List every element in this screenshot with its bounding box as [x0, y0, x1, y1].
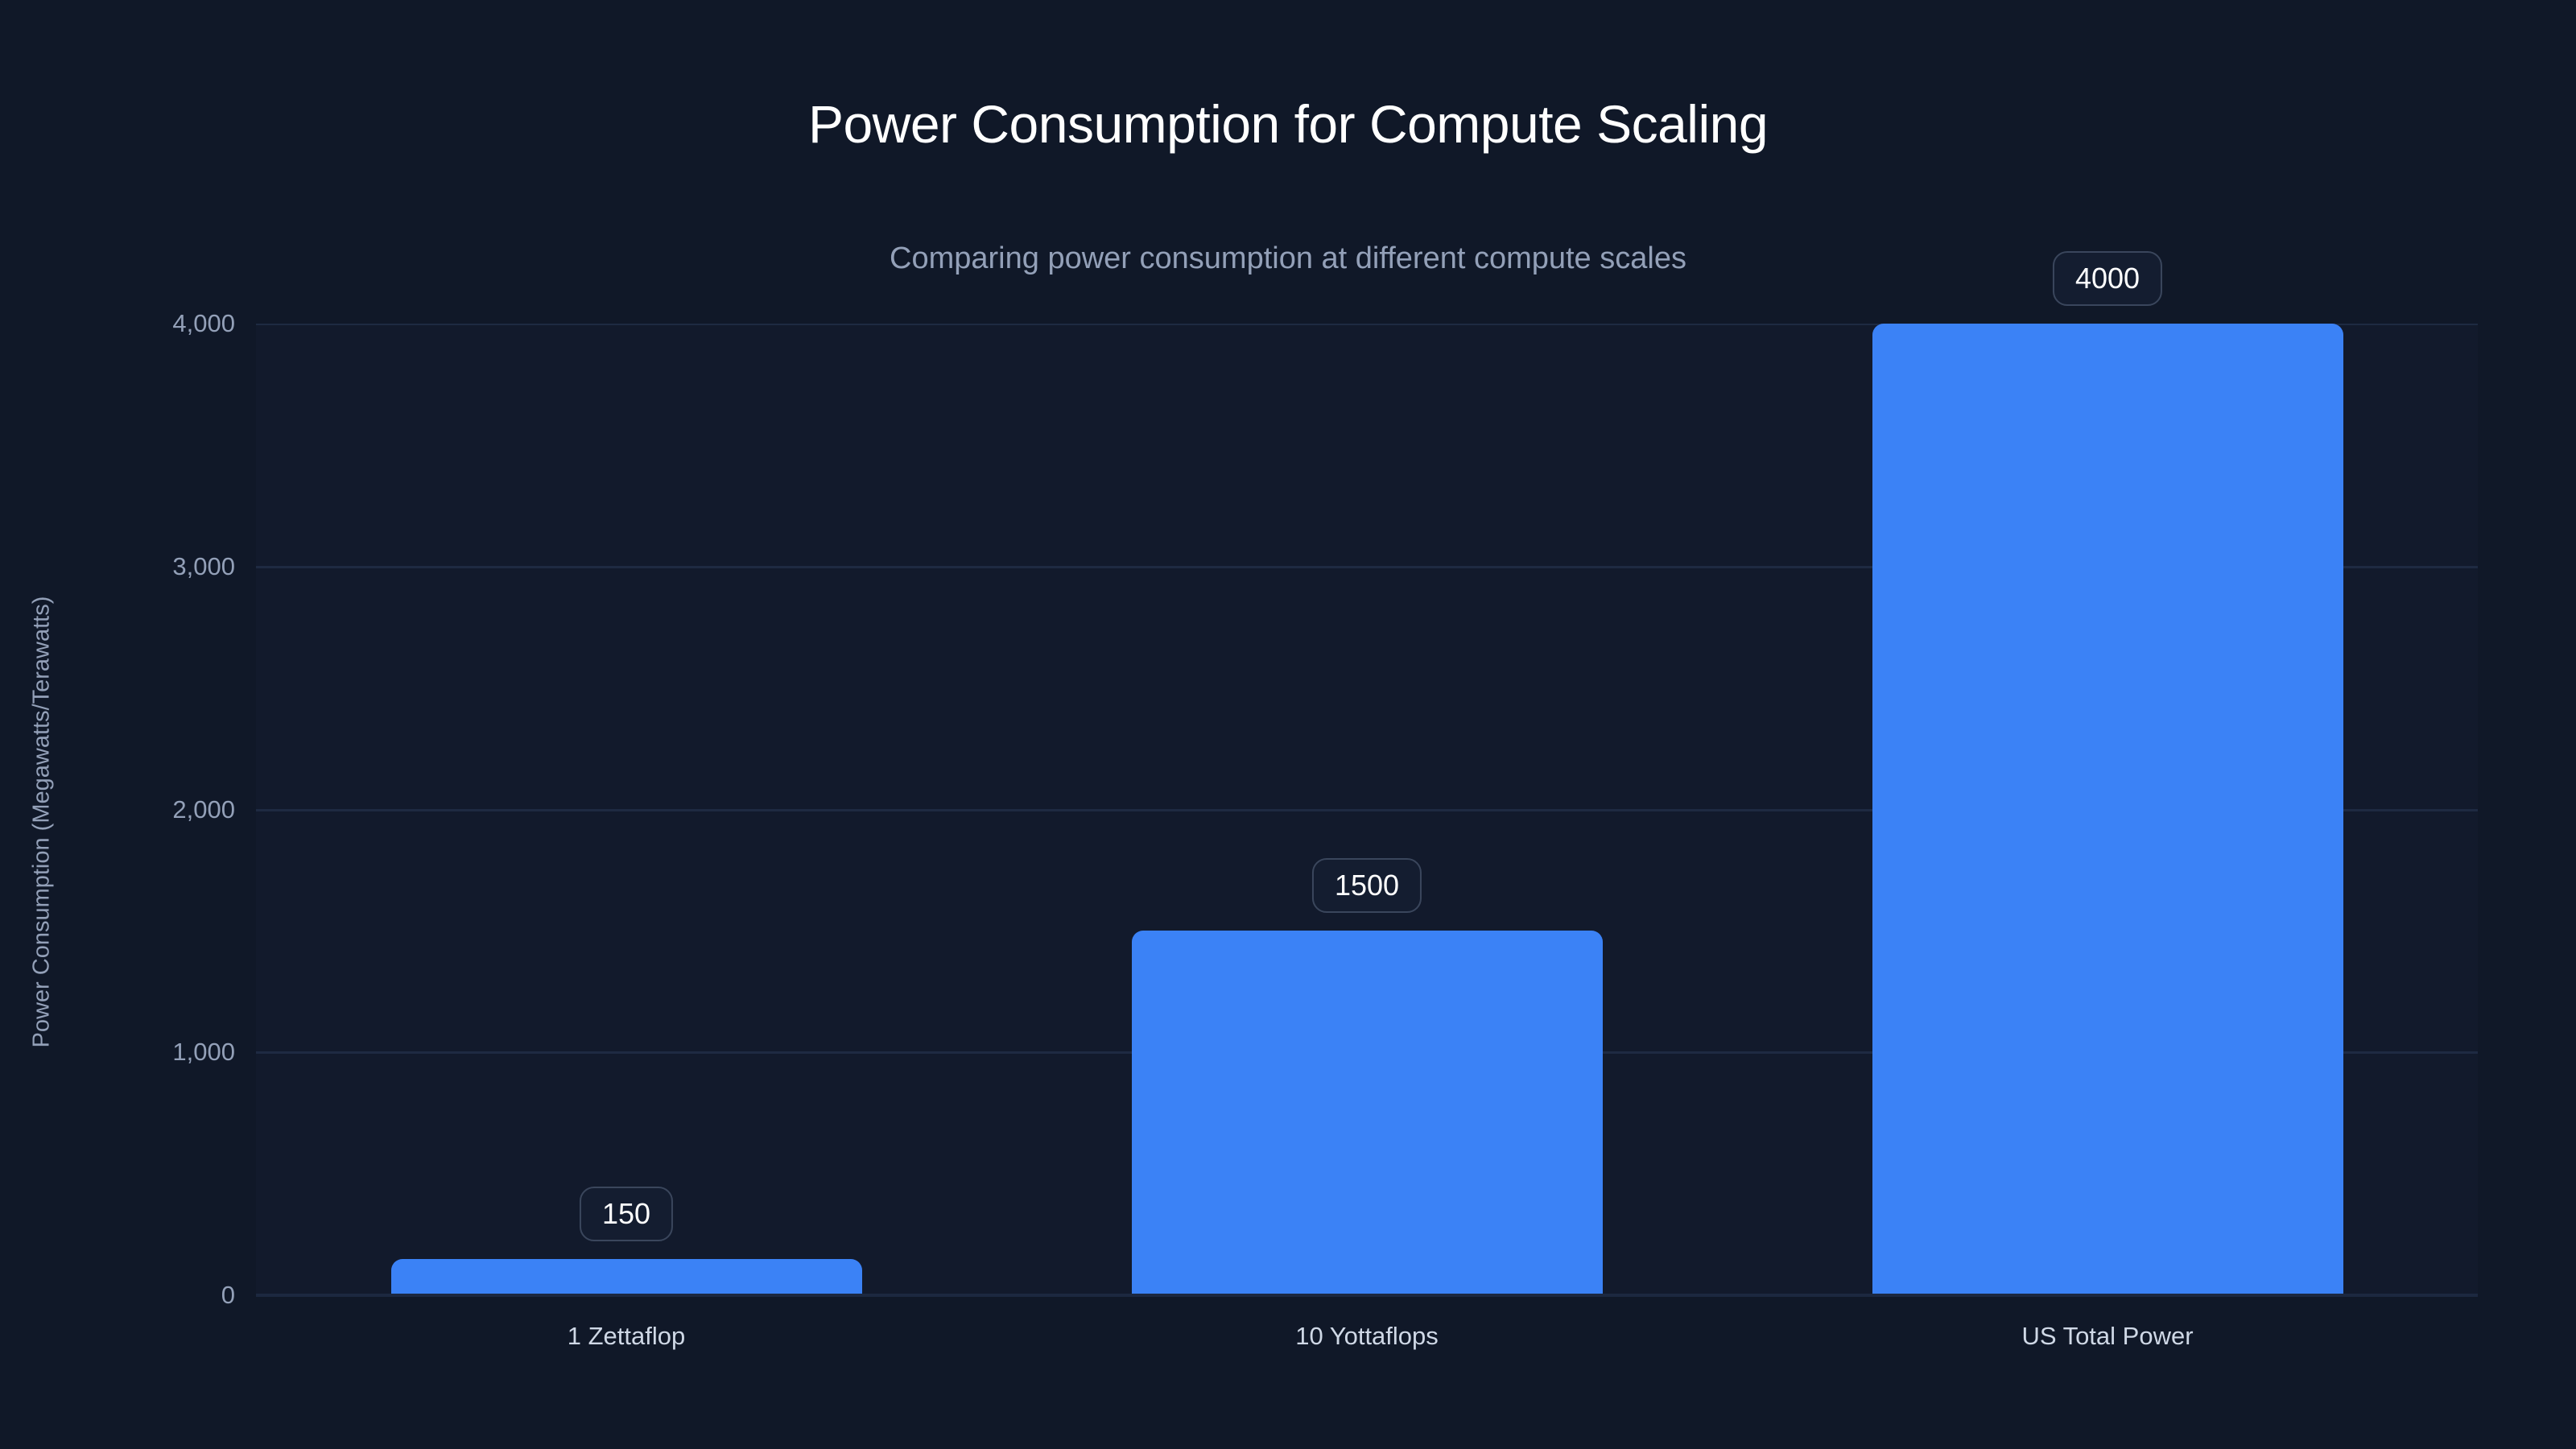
bar[interactable] [391, 1259, 862, 1295]
y-axis-tick-label: 3,000 [50, 552, 235, 581]
y-axis-tick-label: 4,000 [50, 309, 235, 338]
chart-canvas: Power Consumption for Compute Scaling Co… [0, 0, 2576, 1449]
x-axis-tick-label: US Total Power [1866, 1322, 2349, 1351]
x-axis-tick-label: 10 Yottaflops [1125, 1322, 1608, 1351]
bar-value-label: 4000 [2053, 251, 2162, 306]
bar-value-label: 1500 [1312, 858, 1422, 913]
chart-subtitle: Comparing power consumption at different… [0, 242, 2576, 276]
plot-area [256, 324, 2478, 1295]
x-axis-line [256, 1294, 2478, 1297]
y-axis-tick-label: 0 [50, 1281, 235, 1310]
y-axis-tick-label: 1,000 [50, 1038, 235, 1067]
bar[interactable] [1872, 324, 2343, 1295]
bar[interactable] [1132, 931, 1603, 1295]
y-axis-tick-label: 2,000 [50, 795, 235, 824]
x-axis-tick-label: 1 Zettaflop [385, 1322, 868, 1351]
chart-title: Power Consumption for Compute Scaling [0, 93, 2576, 155]
bar-value-label: 150 [580, 1187, 673, 1241]
